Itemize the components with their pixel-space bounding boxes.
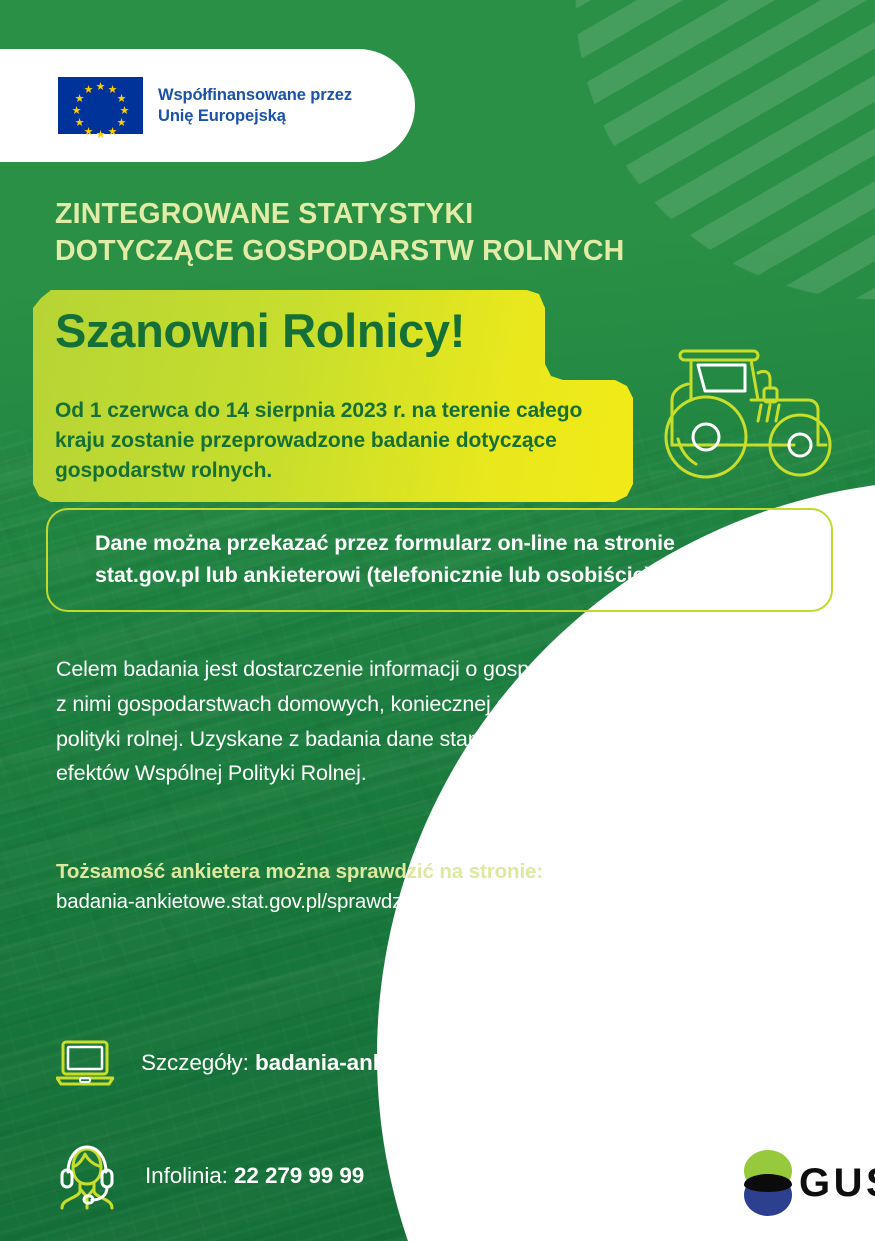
online-form-text: Dane można przekazać przez formularz on-… bbox=[95, 528, 825, 592]
highlight-body: Od 1 czerwca do 14 sierpnia 2023 r. na t… bbox=[55, 396, 625, 487]
page-title: ZINTEGROWANE STATYSTYKI DOTYCZĄCE GOSPOD… bbox=[55, 196, 695, 270]
poster-root: ★ ★ ★ ★ ★ ★ ★ ★ ★ ★ ★ ★ Współfinansowane… bbox=[0, 0, 875, 1241]
gus-circle-overlap bbox=[744, 1174, 792, 1192]
eu-star: ★ bbox=[107, 127, 118, 138]
laptop-icon bbox=[56, 1040, 114, 1086]
hotline-number: 22 279 99 99 bbox=[234, 1163, 364, 1188]
eu-star: ★ bbox=[95, 82, 106, 93]
hotline-contact-text[interactable]: Infolinia: 22 279 99 99 bbox=[145, 1163, 364, 1189]
hotline-label: Infolinia: bbox=[145, 1163, 234, 1188]
european-union-flag: ★ ★ ★ ★ ★ ★ ★ ★ ★ ★ ★ ★ bbox=[58, 77, 143, 134]
website-bold: badania-ankietowe bbox=[255, 1050, 455, 1075]
verify-url[interactable]: badania-ankietowe.stat.gov.pl/sprawdz-to… bbox=[56, 890, 856, 914]
page-title-line2: DOTYCZĄCE GOSPODARSTW ROLNYCH bbox=[55, 233, 695, 270]
eu-star: ★ bbox=[116, 94, 127, 105]
verify-heading: Tożsamość ankietera można sprawdzić na s… bbox=[56, 860, 846, 884]
diagonal-stripes-pattern bbox=[545, 0, 875, 340]
eu-funding-line1: Współfinansowane przez bbox=[158, 85, 352, 106]
eu-star: ★ bbox=[83, 85, 94, 96]
highlight-headline: Szanowni Rolnicy! bbox=[55, 307, 465, 354]
gus-logo: GUS bbox=[742, 1150, 875, 1216]
online-form-line2: stat.gov.pl lub ankieterowi (telefoniczn… bbox=[95, 560, 825, 592]
website-contact-row: Szczegóły: badania-ankietowe.stat.gov.pl bbox=[56, 1040, 561, 1086]
gus-logo-text: GUS bbox=[799, 1163, 875, 1203]
website-rest: .stat.gov.pl bbox=[455, 1050, 561, 1075]
eu-star: ★ bbox=[71, 106, 82, 117]
eu-star: ★ bbox=[95, 130, 106, 141]
body-paragraph: Celem badania jest dostarczenie informac… bbox=[56, 652, 846, 791]
website-contact-text[interactable]: Szczegóły: badania-ankietowe.stat.gov.pl bbox=[141, 1050, 561, 1076]
eu-funding-badge: ★ ★ ★ ★ ★ ★ ★ ★ ★ ★ ★ ★ Współfinansowane… bbox=[0, 49, 415, 162]
gus-logo-mark bbox=[742, 1150, 794, 1216]
eu-funding-text: Współfinansowane przez Unię Europejską bbox=[158, 85, 352, 126]
eu-star: ★ bbox=[74, 118, 85, 129]
tractor-illustration bbox=[648, 333, 870, 488]
online-form-line1: Dane można przekazać przez formularz on-… bbox=[95, 528, 825, 560]
eu-funding-line2: Unię Europejską bbox=[158, 106, 352, 127]
page-title-line1: ZINTEGROWANE STATYSTYKI bbox=[55, 196, 695, 233]
hotline-contact-row: Infolinia: 22 279 99 99 bbox=[56, 1142, 364, 1210]
headset-operator-icon bbox=[56, 1142, 118, 1210]
website-label: Szczegóły: bbox=[141, 1050, 255, 1075]
eu-star: ★ bbox=[119, 106, 130, 117]
